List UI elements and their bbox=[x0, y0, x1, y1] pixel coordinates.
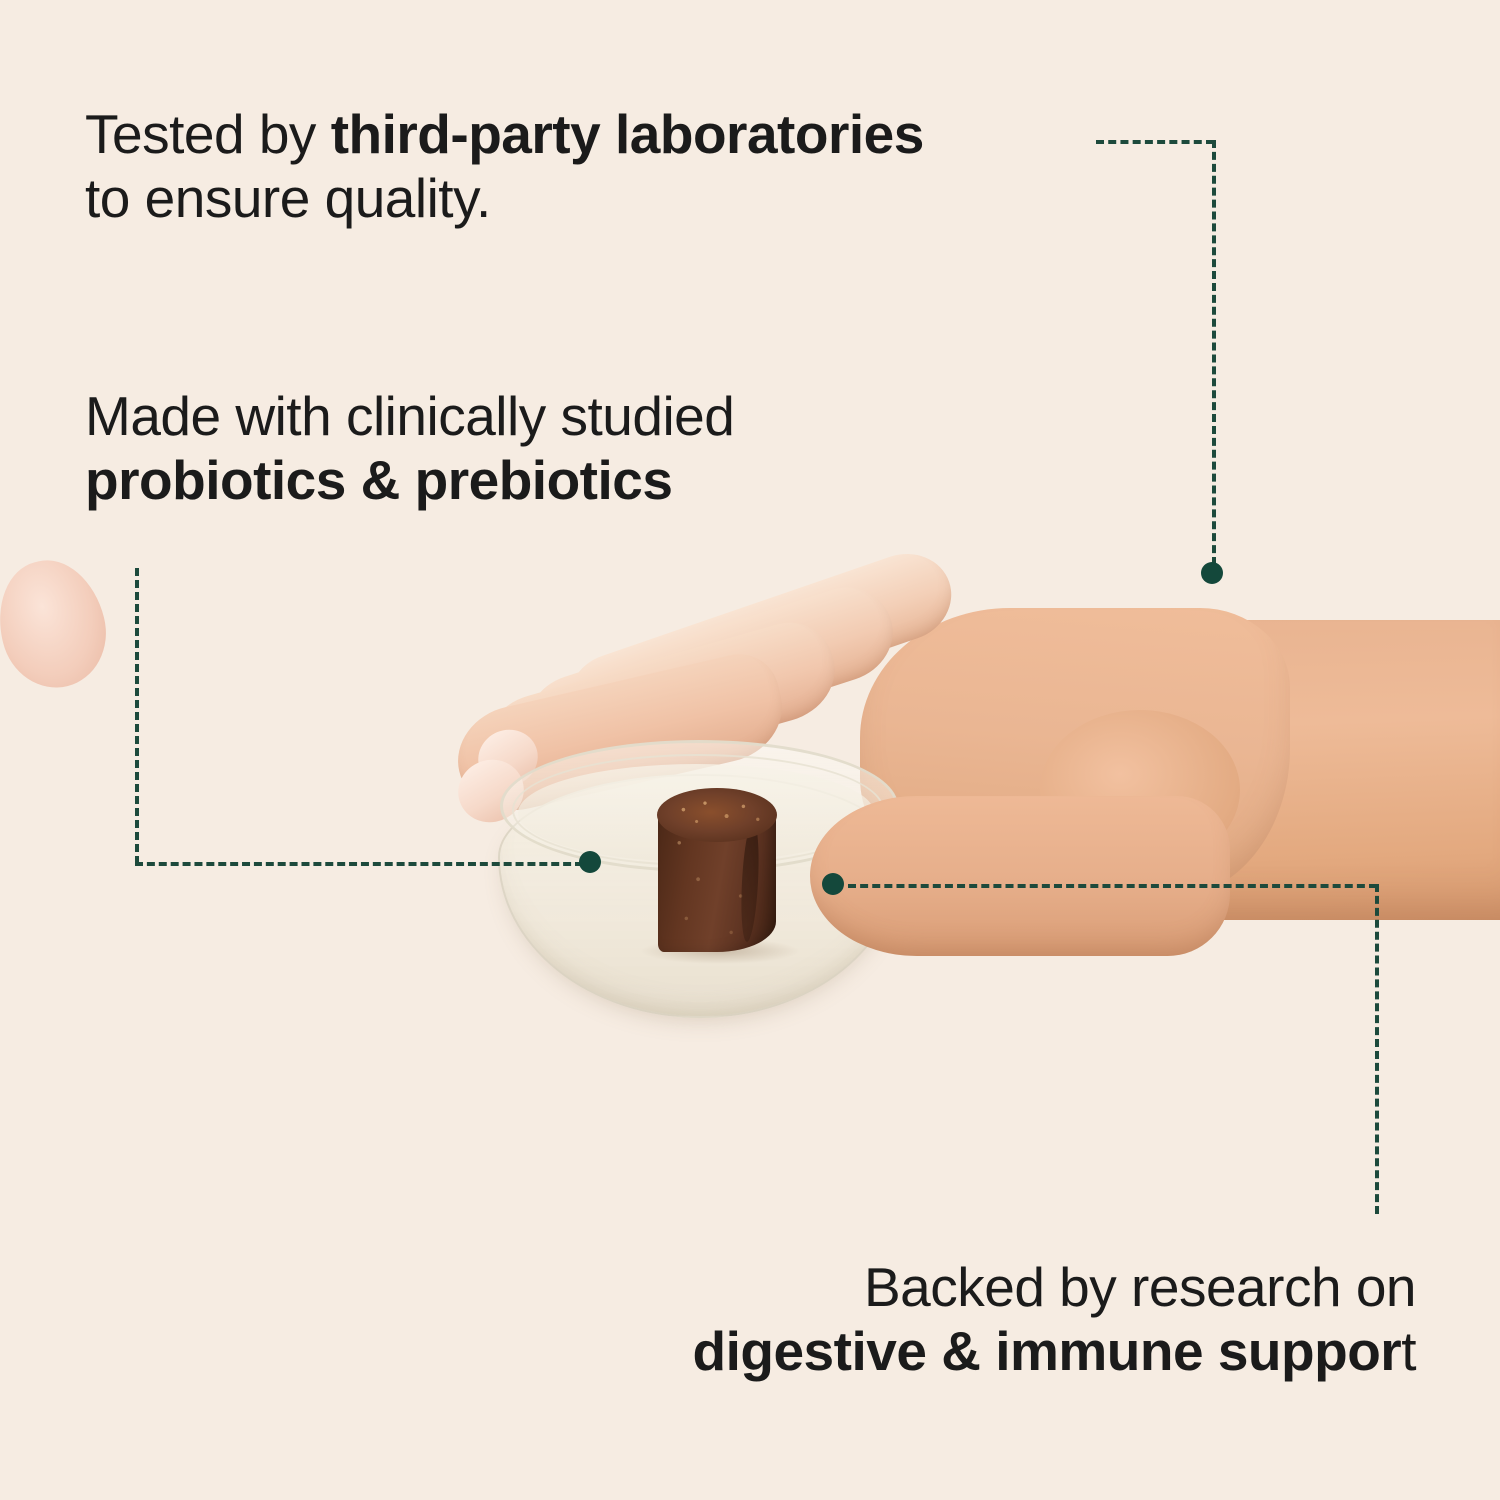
callout-probiotics: Made with clinically studied probiotics … bbox=[85, 385, 734, 513]
connector-probiotics-dot bbox=[579, 851, 601, 873]
callout-tested-line1-normal: Tested by bbox=[85, 103, 331, 165]
connector-probiotics-horizontal bbox=[135, 862, 583, 866]
callout-probiotics-line1: Made with clinically studied bbox=[85, 385, 734, 449]
callout-research-line1: Backed by research on bbox=[692, 1256, 1416, 1320]
product-photo bbox=[0, 560, 1500, 1080]
callout-probiotics-line2: probiotics & prebiotics bbox=[85, 449, 734, 513]
callout-tested-line1-bold: third-party laboratories bbox=[331, 103, 924, 165]
thumb bbox=[810, 796, 1230, 956]
connector-research-vertical bbox=[1375, 884, 1379, 1214]
thumbnail bbox=[0, 549, 118, 698]
connector-research-horizontal bbox=[848, 884, 1377, 888]
callout-tested-line1: Tested by third-party laboratories bbox=[85, 103, 924, 167]
treat-specks bbox=[657, 788, 777, 842]
connector-tested-vertical bbox=[1212, 140, 1216, 565]
connector-probiotics-vertical bbox=[135, 568, 139, 864]
callout-tested-line2: to ensure quality. bbox=[85, 167, 924, 231]
callout-research-line2-bold: digestive & immune suppor bbox=[692, 1320, 1401, 1382]
dog-treat bbox=[658, 788, 776, 954]
callout-research: Backed by research on digestive & immune… bbox=[692, 1256, 1416, 1384]
callout-research-line2: digestive & immune support bbox=[692, 1320, 1416, 1384]
callout-research-line2-tail: t bbox=[1401, 1320, 1416, 1382]
infographic-canvas: Tested by third-party laboratories to en… bbox=[0, 0, 1500, 1500]
connector-research-dot bbox=[822, 873, 844, 895]
callout-tested: Tested by third-party laboratories to en… bbox=[85, 103, 924, 231]
connector-tested-dot bbox=[1201, 562, 1223, 584]
connector-tested-horizontal bbox=[1096, 140, 1214, 144]
